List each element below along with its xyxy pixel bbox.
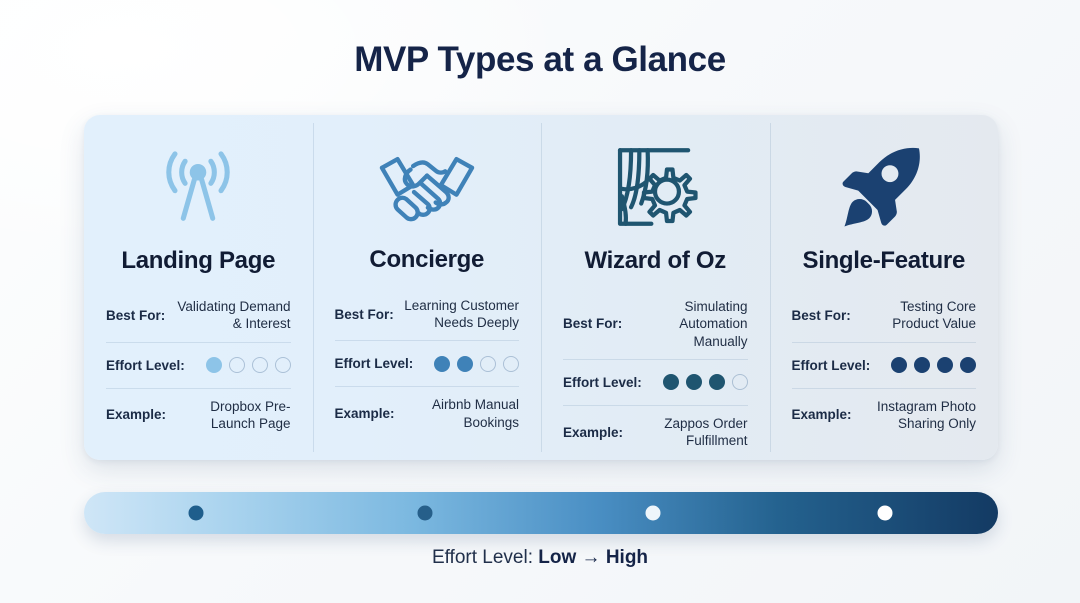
curtain-gear-icon	[563, 141, 748, 233]
card-attribute-rows: Best For:Learning Customer Needs DeeplyE…	[335, 288, 520, 440]
effort-level-dots	[663, 374, 748, 390]
card-attribute-rows: Best For:Validating Demand & InterestEff…	[106, 289, 291, 441]
example-row-label: Example:	[792, 407, 852, 422]
scale-caption-emphasis: Low → High	[538, 547, 648, 568]
best-for-row-label: Best For:	[106, 308, 165, 323]
mvp-card-single-feature: Single-FeatureBest For:Testing Core Prod…	[770, 115, 999, 460]
example-value: Dropbox Pre-Launch Page	[176, 398, 290, 433]
best-for-value: Learning Customer Needs Deeply	[404, 297, 519, 332]
best-for-row: Best For:Validating Demand & Interest	[106, 289, 291, 342]
handshake-icon	[335, 141, 520, 232]
effort-level-row-label: Effort Level:	[335, 356, 414, 371]
card-title: Concierge	[335, 246, 520, 274]
effort-dot-filled	[457, 356, 473, 372]
effort-dot-empty	[503, 356, 519, 372]
effort-level-row: Effort Level:	[792, 342, 977, 388]
example-row: Example:Instagram Photo Sharing Only	[792, 388, 977, 442]
effort-dot-filled	[914, 357, 930, 373]
effort-dot-empty	[252, 357, 268, 373]
example-row-label: Example:	[106, 407, 166, 422]
page-title: MVP Types at a Glance	[0, 40, 1080, 80]
best-for-row-label: Best For:	[563, 316, 622, 331]
effort-dot-filled	[686, 374, 702, 390]
effort-dot-empty	[275, 357, 291, 373]
effort-dot-filled	[960, 357, 976, 373]
rocket-icon	[792, 141, 977, 233]
effort-level-dots	[206, 357, 291, 373]
scale-caption: Effort Level: Low → High	[0, 547, 1080, 569]
scale-marker-4	[877, 506, 892, 521]
effort-level-row-label: Effort Level:	[792, 358, 871, 373]
example-value: Instagram Photo Sharing Only	[862, 398, 976, 433]
example-row: Example:Zappos Order Fulfillment	[563, 405, 748, 459]
effort-dot-empty	[732, 374, 748, 390]
best-for-value: Validating Demand & Interest	[175, 298, 290, 333]
best-for-row: Best For:Testing Core Product Value	[792, 289, 977, 342]
example-value: Zappos Order Fulfillment	[633, 415, 747, 450]
effort-level-dots	[434, 356, 519, 372]
effort-dot-filled	[709, 374, 725, 390]
best-for-row-label: Best For:	[335, 307, 394, 322]
card-attribute-rows: Best For:Testing Core Product ValueEffor…	[792, 289, 977, 441]
effort-level-row-label: Effort Level:	[563, 375, 642, 390]
example-row-label: Example:	[335, 406, 395, 421]
effort-dot-filled	[937, 357, 953, 373]
effort-level-row: Effort Level:	[335, 340, 520, 386]
mvp-card-landing-page: Landing PageBest For:Validating Demand &…	[84, 115, 313, 460]
effort-dot-empty	[480, 356, 496, 372]
effort-dot-filled	[663, 374, 679, 390]
example-row: Example:Airbnb Manual Bookings	[335, 386, 520, 440]
best-for-row: Best For:Learning Customer Needs Deeply	[335, 288, 520, 341]
best-for-row-label: Best For:	[792, 308, 851, 323]
effort-level-dots	[891, 357, 976, 373]
mvp-card-concierge: ConciergeBest For:Learning Customer Need…	[313, 115, 542, 460]
card-title: Landing Page	[106, 247, 291, 275]
effort-dot-filled	[206, 357, 222, 373]
best-for-value: Simulating Automation Manually	[632, 298, 747, 350]
effort-dot-empty	[229, 357, 245, 373]
best-for-row: Best For:Simulating Automation Manually	[563, 289, 748, 359]
scale-marker-2	[417, 506, 432, 521]
best-for-value: Testing Core Product Value	[861, 298, 976, 333]
effort-level-row: Effort Level:	[106, 342, 291, 388]
mvp-types-panel: Landing PageBest For:Validating Demand &…	[84, 115, 998, 460]
card-title: Single-Feature	[792, 247, 977, 275]
scale-caption-prefix: Effort Level:	[432, 547, 538, 568]
mvp-card-wizard-of-oz: Wizard of OzBest For:Simulating Automati…	[541, 115, 770, 460]
scale-marker-1	[188, 506, 203, 521]
effort-level-row: Effort Level:	[563, 359, 748, 405]
example-row: Example:Dropbox Pre-Launch Page	[106, 388, 291, 442]
effort-dot-filled	[891, 357, 907, 373]
card-title: Wizard of Oz	[563, 247, 748, 275]
card-attribute-rows: Best For:Simulating Automation ManuallyE…	[563, 289, 748, 458]
effort-scale-bar	[84, 492, 998, 534]
example-value: Airbnb Manual Bookings	[405, 396, 519, 431]
scale-marker-3	[645, 506, 660, 521]
example-row-label: Example:	[563, 425, 623, 440]
effort-level-row-label: Effort Level:	[106, 358, 185, 373]
effort-dot-filled	[434, 356, 450, 372]
radio-tower-icon	[106, 141, 291, 233]
